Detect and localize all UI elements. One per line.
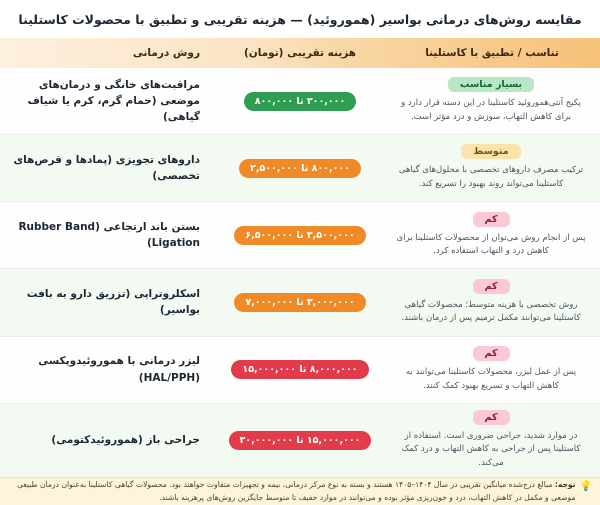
footer-body: مبالغ درج‌شده میانگین تقریبی در سال ۱۴۰۴…	[17, 480, 576, 501]
footer-text: توجه: مبالغ درج‌شده میانگین تقریبی در سا…	[10, 479, 576, 503]
footer-label: توجه:	[555, 480, 576, 489]
method-label: مراقبت‌های خانگی و درمان‌های موضعی (حمام…	[10, 77, 200, 126]
table-row: بسیار مناسب پکیج آنتی‌هموروئید کاستلینا …	[0, 68, 600, 135]
lightbulb-icon: 💡	[580, 482, 592, 492]
method-cell: اسکلروتراپی (تزریق دارو به بافت بواسیر)	[0, 269, 216, 335]
status-badge: کم	[473, 212, 510, 227]
cost-pill: ۳۰۰,۰۰۰ تا ۸۰۰,۰۰۰	[244, 92, 357, 111]
fit-cell: متوسط ترکیب مصرف داروهای تخصصی با محلول‌…	[384, 135, 600, 201]
method-label: اسکلروتراپی (تزریق دارو به بافت بواسیر)	[10, 286, 200, 319]
cost-cell: ۸,۰۰۰,۰۰۰ تا ۱۵,۰۰۰,۰۰۰	[216, 337, 384, 403]
cost-pill: ۸۰۰,۰۰۰ تا ۲,۵۰۰,۰۰۰	[239, 159, 361, 178]
fit-cell: کم پس از انجام روش می‌توان از محصولات کا…	[384, 202, 600, 268]
fit-cell: کم روش تخصصی با هزینه متوسط؛ محصولات گیا…	[384, 269, 600, 335]
column-header-fit: تناسب / تطبیق با کاستلینا	[384, 38, 600, 68]
cost-pill: ۱۵,۰۰۰,۰۰۰ تا ۳۰,۰۰۰,۰۰۰	[229, 431, 372, 450]
footer-note: 💡 توجه: مبالغ درج‌شده میانگین تقریبی در …	[0, 477, 600, 505]
fit-note: روش تخصصی با هزینه متوسط؛ محصولات گیاهی …	[394, 299, 588, 327]
status-badge: کم	[473, 410, 510, 425]
page-title-bar: مقایسه روش‌های درمانی بواسیر (هموروئید) …	[0, 0, 600, 38]
method-cell: داروهای تجویزی (پمادها و قرص‌های تخصصی)	[0, 135, 216, 201]
table-row: کم روش تخصصی با هزینه متوسط؛ محصولات گیا…	[0, 269, 600, 336]
table-row: کم پس از عمل لیزر، محصولات کاستلینا می‌ت…	[0, 337, 600, 404]
comparison-table-card: مقایسه روش‌های درمانی بواسیر (هموروئید) …	[0, 0, 600, 505]
fit-cell: بسیار مناسب پکیج آنتی‌هموروئید کاستلینا …	[384, 68, 600, 134]
method-label: لیزر درمانی با هموروئیدوپکسی (HAL/PPH)	[10, 353, 200, 386]
method-cell: لیزر درمانی با هموروئیدوپکسی (HAL/PPH)	[0, 337, 216, 403]
cost-cell: ۳,۵۰۰,۰۰۰ تا ۶,۵۰۰,۰۰۰	[216, 202, 384, 268]
cost-pill: ۸,۰۰۰,۰۰۰ تا ۱۵,۰۰۰,۰۰۰	[231, 360, 368, 379]
cost-cell: ۱۵,۰۰۰,۰۰۰ تا ۳۰,۰۰۰,۰۰۰	[216, 404, 384, 477]
method-cell: جراحی باز (هموروئیدکتومی)	[0, 404, 216, 477]
cost-cell: ۳۰۰,۰۰۰ تا ۸۰۰,۰۰۰	[216, 68, 384, 134]
fit-note: ترکیب مصرف داروهای تخصصی با محلول‌های گی…	[394, 164, 588, 192]
fit-cell: کم پس از عمل لیزر، محصولات کاستلینا می‌ت…	[384, 337, 600, 403]
cost-cell: ۸۰۰,۰۰۰ تا ۲,۵۰۰,۰۰۰	[216, 135, 384, 201]
fit-note: در موارد شدید، جراحی ضروری است. استفاده …	[394, 430, 588, 471]
table-header-row: تناسب / تطبیق با کاستلینا هزینه تقریبی (…	[0, 38, 600, 68]
fit-cell: کم در موارد شدید، جراحی ضروری است. استفا…	[384, 404, 600, 477]
fit-note: پس از انجام روش می‌توان از محصولات کاستل…	[394, 232, 588, 260]
table-row: کم در موارد شدید، جراحی ضروری است. استفا…	[0, 404, 600, 477]
cost-pill: ۳,۵۰۰,۰۰۰ تا ۶,۵۰۰,۰۰۰	[234, 226, 365, 245]
method-label: جراحی باز (هموروئیدکتومی)	[51, 432, 200, 448]
cost-pill: ۳,۰۰۰,۰۰۰ تا ۷,۰۰۰,۰۰۰	[234, 293, 365, 312]
fit-note: پس از عمل لیزر، محصولات کاستلینا می‌توان…	[394, 366, 588, 394]
fit-note: پکیج آنتی‌هموروئید کاستلینا در این دسته …	[394, 97, 588, 125]
method-label: داروهای تجویزی (پمادها و قرص‌های تخصصی)	[10, 152, 200, 185]
status-badge: کم	[473, 346, 510, 361]
method-cell: بستن باند ارتجاعی (Rubber Band Ligation)	[0, 202, 216, 268]
table-row: کم پس از انجام روش می‌توان از محصولات کا…	[0, 202, 600, 269]
page-title: مقایسه روش‌های درمانی بواسیر (هموروئید) …	[18, 12, 581, 27]
cost-cell: ۳,۰۰۰,۰۰۰ تا ۷,۰۰۰,۰۰۰	[216, 269, 384, 335]
table-row: متوسط ترکیب مصرف داروهای تخصصی با محلول‌…	[0, 135, 600, 202]
status-badge: متوسط	[461, 144, 520, 159]
status-badge: کم	[473, 279, 510, 294]
column-header-method: روش درمانی	[0, 38, 216, 68]
status-badge: بسیار مناسب	[448, 77, 534, 92]
method-label: بستن باند ارتجاعی (Rubber Band Ligation)	[10, 219, 200, 252]
column-header-cost: هزینه تقریبی (تومان)	[216, 38, 384, 68]
method-cell: مراقبت‌های خانگی و درمان‌های موضعی (حمام…	[0, 68, 216, 134]
table-body: بسیار مناسب پکیج آنتی‌هموروئید کاستلینا …	[0, 68, 600, 477]
